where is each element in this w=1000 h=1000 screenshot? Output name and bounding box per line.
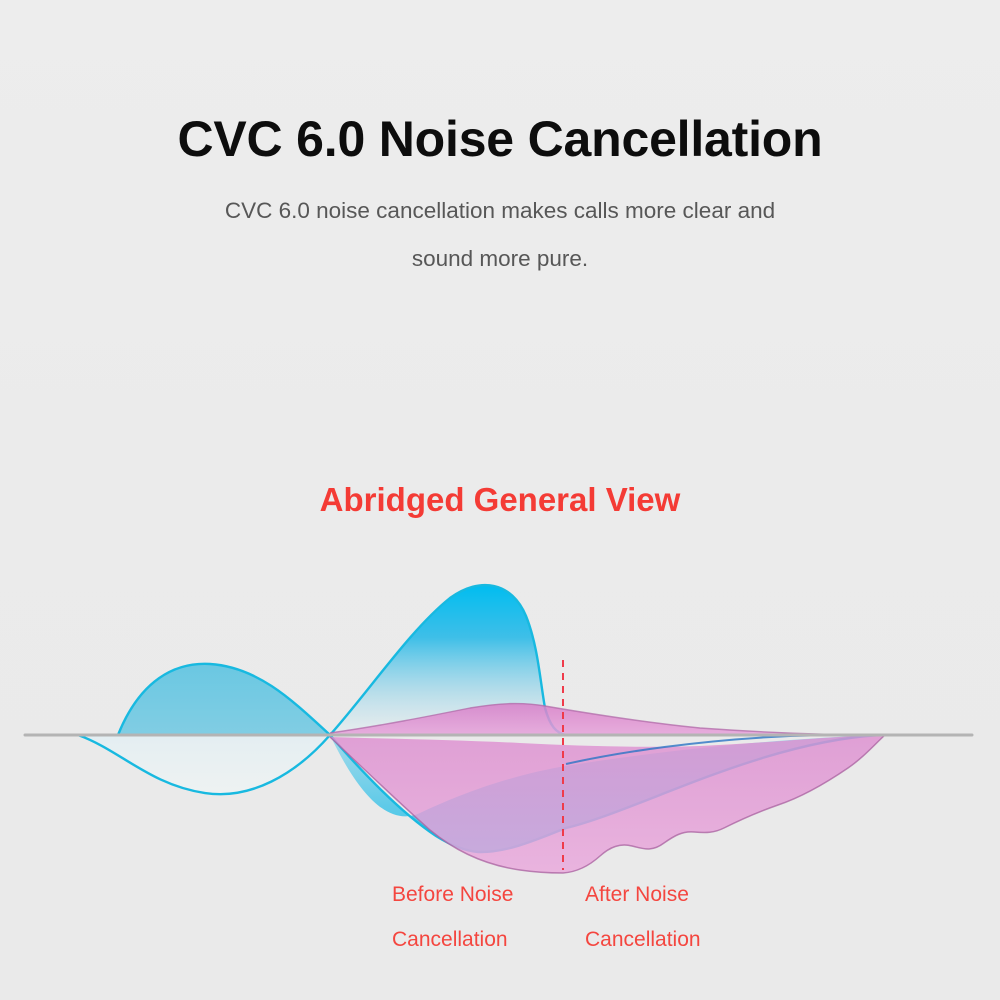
chart-legend: Before Noise Cancellation After Noise Ca… xyxy=(0,872,1000,962)
page-root: CVC 6.0 Noise Cancellation CVC 6.0 noise… xyxy=(0,0,1000,1000)
legend-item-before-noise-cancellation: Before Noise Cancellation xyxy=(392,872,513,962)
cyan-left-hump-area xyxy=(118,664,330,735)
page-subtitle: CVC 6.0 noise cancellation makes calls m… xyxy=(0,170,1000,283)
cyan-left-trough-area xyxy=(78,735,330,794)
legend-after-line-1: After Noise xyxy=(585,872,701,917)
legend-after-line-2: Cancellation xyxy=(585,917,701,962)
page-title: CVC 6.0 Noise Cancellation xyxy=(0,0,1000,170)
subtitle-line-2: sound more pure. xyxy=(0,235,1000,283)
header: CVC 6.0 Noise Cancellation CVC 6.0 noise… xyxy=(0,0,1000,283)
legend-before-line-2: Cancellation xyxy=(392,917,513,962)
subtitle-line-1: CVC 6.0 noise cancellation makes calls m… xyxy=(0,187,1000,235)
section-heading: Abridged General View xyxy=(0,478,1000,522)
legend-before-line-1: Before Noise xyxy=(392,872,513,917)
waveform-svg xyxy=(0,540,1000,900)
legend-item-after-noise-cancellation: After Noise Cancellation xyxy=(585,872,701,962)
waveform-chart xyxy=(0,540,1000,900)
